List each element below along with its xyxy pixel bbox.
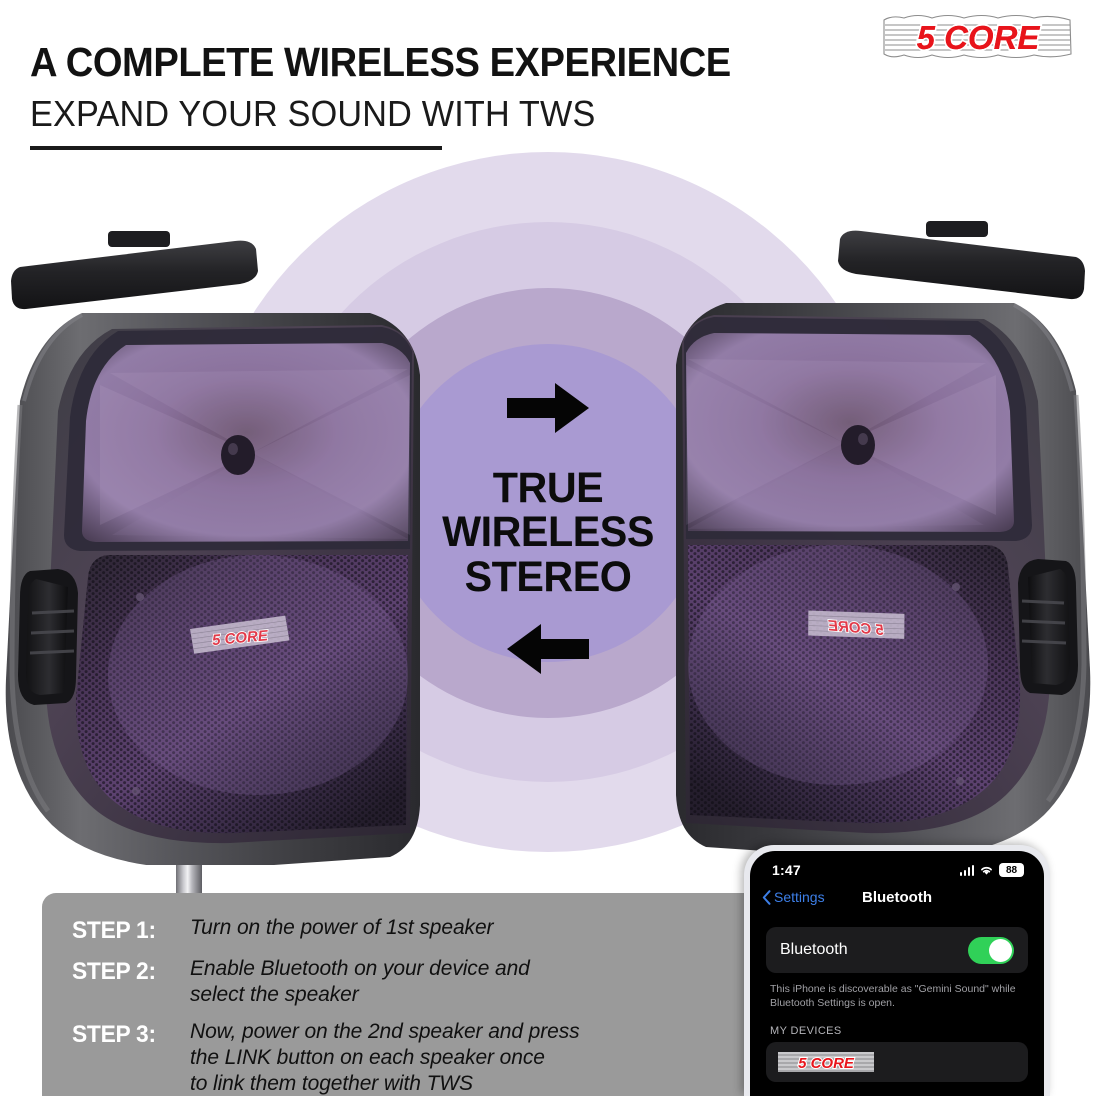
five-core-device-logo-icon: 5 CORE <box>776 1050 876 1074</box>
cellular-signal-icon <box>960 865 975 876</box>
step-text: Now, power on the 2nd speaker and press … <box>190 1019 580 1096</box>
battery-indicator: 88 <box>999 863 1024 877</box>
bluetooth-toggle-switch[interactable] <box>968 937 1014 964</box>
brand-logo: 5 CORE 5 CORE <box>878 12 1078 62</box>
smartphone-mockup: 1:47 88 <box>744 845 1050 1096</box>
five-core-logo-icon: 5 CORE 5 CORE <box>878 12 1078 62</box>
step-row: STEP 2: Enable Bluetooth on your device … <box>72 956 786 1008</box>
tws-headline: TRUE WIRELESS STEREO <box>423 466 673 599</box>
grille-screw <box>952 583 960 591</box>
handle-knob <box>926 221 988 237</box>
handle-knob <box>108 231 170 247</box>
back-label: Settings <box>774 889 825 905</box>
header-block: A COMPLETE WIRELESS EXPERIENCE EXPAND YO… <box>30 42 930 132</box>
step-text: Turn on the power of 1st speaker <box>190 915 493 941</box>
step-label: STEP 3: <box>72 1019 184 1049</box>
phone-nav-bar: Settings Bluetooth <box>750 881 1044 905</box>
step-label: STEP 2: <box>72 956 184 986</box>
step-label: STEP 1: <box>72 915 184 945</box>
svg-text:5 CORE: 5 CORE <box>798 1055 855 1072</box>
steps-panel: STEP 1: Turn on the power of 1st speaker… <box>42 893 786 1096</box>
bluetooth-label: Bluetooth <box>780 941 848 959</box>
tweeter-dome <box>841 425 875 465</box>
step-text-line: Turn on the power of 1st speaker <box>190 915 493 941</box>
phone-screen: 1:47 88 <box>750 851 1044 1096</box>
speaker-handle <box>838 231 1085 299</box>
paired-device-row[interactable]: 5 CORE <box>766 1042 1028 1082</box>
product-infographic: A COMPLETE WIRELESS EXPERIENCE EXPAND YO… <box>0 0 1096 1096</box>
headline-primary: A COMPLETE WIRELESS EXPERIENCE <box>30 42 867 83</box>
arrow-left-icon <box>505 621 591 677</box>
tws-line-1: TRUE <box>423 466 673 510</box>
step-text-line: select the speaker <box>190 982 530 1008</box>
svg-text:5 CORE: 5 CORE <box>917 19 1041 56</box>
grille-screw <box>956 777 964 785</box>
step-text: Enable Bluetooth on your device and sele… <box>190 956 530 1008</box>
bluetooth-party-speaker-right: 5 CORE <box>676 195 1096 855</box>
chevron-left-icon <box>762 890 771 905</box>
toggle-knob <box>989 939 1012 962</box>
step-text-line: Now, power on the 2nd speaker and press <box>190 1019 580 1045</box>
tws-line-3: STEREO <box>423 555 673 599</box>
status-time: 1:47 <box>772 862 801 878</box>
grille-screw <box>132 787 140 795</box>
phone-status-bar: 1:47 88 <box>750 851 1044 881</box>
back-to-settings-button[interactable]: Settings <box>762 889 825 905</box>
step-row: STEP 1: Turn on the power of 1st speaker <box>72 915 786 945</box>
bluetooth-party-speaker-left: 5 CORE <box>0 205 420 865</box>
arrow-right-icon <box>505 380 591 436</box>
step-text-line: to link them together with TWS <box>190 1071 580 1096</box>
bluetooth-toggle-row[interactable]: Bluetooth <box>766 927 1028 973</box>
tweeter-dome <box>221 435 255 475</box>
grille-screw <box>136 593 144 601</box>
header-underline <box>30 146 442 150</box>
discoverable-note: This iPhone is discoverable as "Gemini S… <box>770 982 1024 1010</box>
tws-line-2: WIRELESS <box>423 510 673 554</box>
step-text-line: the LINK button on each speaker once <box>190 1045 580 1071</box>
step-row: STEP 3: Now, power on the 2nd speaker an… <box>72 1019 786 1096</box>
status-indicators: 88 <box>960 863 1025 877</box>
step-text-line: Enable Bluetooth on your device and <box>190 956 530 982</box>
wifi-icon <box>979 864 994 876</box>
my-devices-header: MY DEVICES <box>770 1025 1024 1037</box>
tws-center-block: TRUE WIRELESS STEREO <box>418 380 678 677</box>
speaker-handle <box>11 241 258 309</box>
headline-secondary: EXPAND YOUR SOUND WITH TWS <box>30 96 885 132</box>
